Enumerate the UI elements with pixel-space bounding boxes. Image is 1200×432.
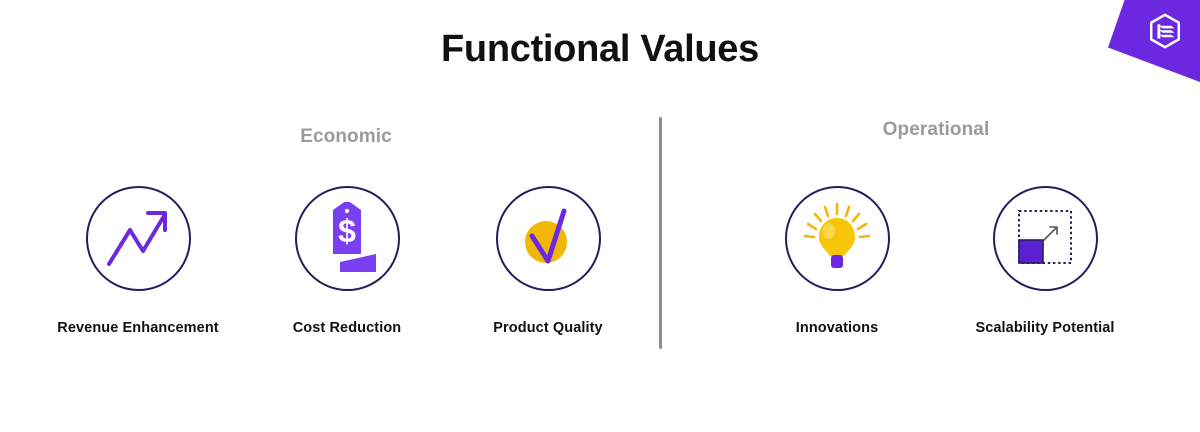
icon-circle [496,186,601,291]
lightbulb-icon [798,200,876,278]
price-tag-dollar-icon: $ [310,202,384,276]
value-item-label: Cost Reduction [237,320,457,337]
section-divider [659,117,662,349]
checkmark-circle-icon [511,202,585,276]
icon-circle: $ [295,186,400,291]
group-header-operational: Operational [836,119,1036,141]
svg-text:$: $ [338,213,356,249]
value-item-innovations[interactable]: Innovations [727,186,947,337]
slide-canvas: Functional Values Economic Operational R… [0,0,1200,432]
value-item-cost-reduction[interactable]: $ Cost Reduction [237,186,457,337]
value-item-label: Scalability Potential [935,320,1155,337]
value-item-label: Innovations [727,320,947,337]
icon-circle [86,186,191,291]
value-item-scalability-potential[interactable]: Scalability Potential [935,186,1155,337]
resize-square-icon [1008,202,1082,276]
icon-circle [785,186,890,291]
group-header-economic: Economic [246,126,446,148]
value-item-label: Revenue Enhancement [28,320,248,337]
value-item-product-quality[interactable]: Product Quality [438,186,658,337]
value-item-label: Product Quality [438,320,658,337]
page-title: Functional Values [0,28,1200,71]
icon-circle [993,186,1098,291]
value-item-revenue-enhancement[interactable]: Revenue Enhancement [28,186,248,337]
growth-arrow-icon [101,202,175,276]
